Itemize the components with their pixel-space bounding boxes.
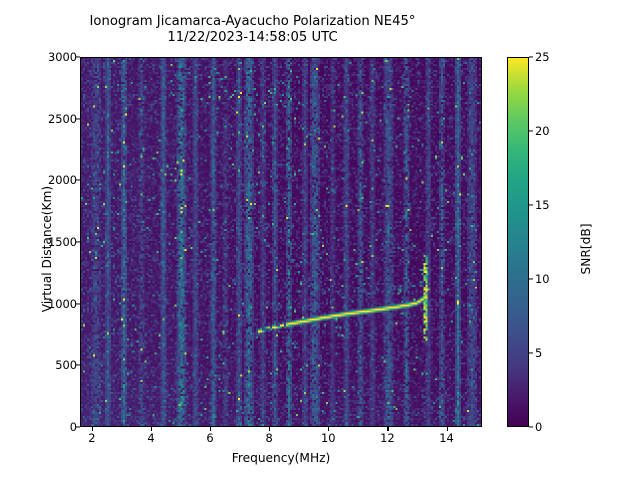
x-tick-mark: [269, 427, 270, 431]
y-tick-label: 2500: [7, 112, 77, 126]
colorbar: [507, 57, 529, 427]
x-tick-label: 6: [185, 431, 235, 445]
y-tick-mark: [76, 303, 80, 304]
colorbar-tick-mark: [529, 56, 533, 57]
y-tick-mark: [76, 118, 80, 119]
x-tick-label: 4: [126, 431, 176, 445]
plot-area: [80, 57, 482, 427]
y-tick-mark: [76, 56, 80, 57]
colorbar-tick-label: 5: [535, 346, 542, 360]
x-tick-mark: [151, 427, 152, 431]
y-tick-mark: [76, 426, 80, 427]
x-axis-label: Frequency(MHz): [80, 451, 482, 465]
title-line-2: 11/22/2023-14:58:05 UTC: [0, 30, 505, 46]
ionogram-figure: Ionogram Jicamarca-Ayacucho Polarization…: [0, 0, 640, 480]
colorbar-tick-label: 15: [535, 198, 550, 212]
colorbar-tick-label: 20: [535, 124, 550, 138]
x-tick-label: 2: [67, 431, 117, 445]
y-tick-mark: [76, 365, 80, 366]
colorbar-tick-mark: [529, 352, 533, 353]
ionogram-heatmap: [81, 58, 481, 426]
x-tick-label: 10: [303, 431, 353, 445]
chart-title: Ionogram Jicamarca-Ayacucho Polarization…: [0, 14, 505, 46]
colorbar-tick-label: 0: [535, 420, 542, 434]
y-tick-label: 3000: [7, 50, 77, 64]
colorbar-tick-mark: [529, 278, 533, 279]
title-line-1: Ionogram Jicamarca-Ayacucho Polarization…: [0, 14, 505, 30]
x-tick-mark: [328, 427, 329, 431]
y-tick-mark: [76, 180, 80, 181]
colorbar-tick-label: 10: [535, 272, 550, 286]
y-tick-label: 2000: [7, 173, 77, 187]
y-tick-label: 1500: [7, 235, 77, 249]
colorbar-tick-mark: [529, 204, 533, 205]
x-tick-mark: [210, 427, 211, 431]
y-tick-label: 500: [7, 358, 77, 372]
x-tick-label: 8: [244, 431, 294, 445]
y-axis-label: Virtual Distance(Km): [40, 109, 54, 389]
x-tick-mark: [447, 427, 448, 431]
y-tick-label: 1000: [7, 297, 77, 311]
colorbar-label: SNR[dB]: [579, 109, 593, 389]
colorbar-tick-label: 25: [535, 50, 550, 64]
colorbar-tick-mark: [529, 130, 533, 131]
colorbar-tick-mark: [529, 426, 533, 427]
x-tick-label: 12: [362, 431, 412, 445]
x-tick-mark: [92, 427, 93, 431]
y-tick-mark: [76, 241, 80, 242]
x-tick-label: 14: [422, 431, 472, 445]
x-tick-mark: [387, 427, 388, 431]
